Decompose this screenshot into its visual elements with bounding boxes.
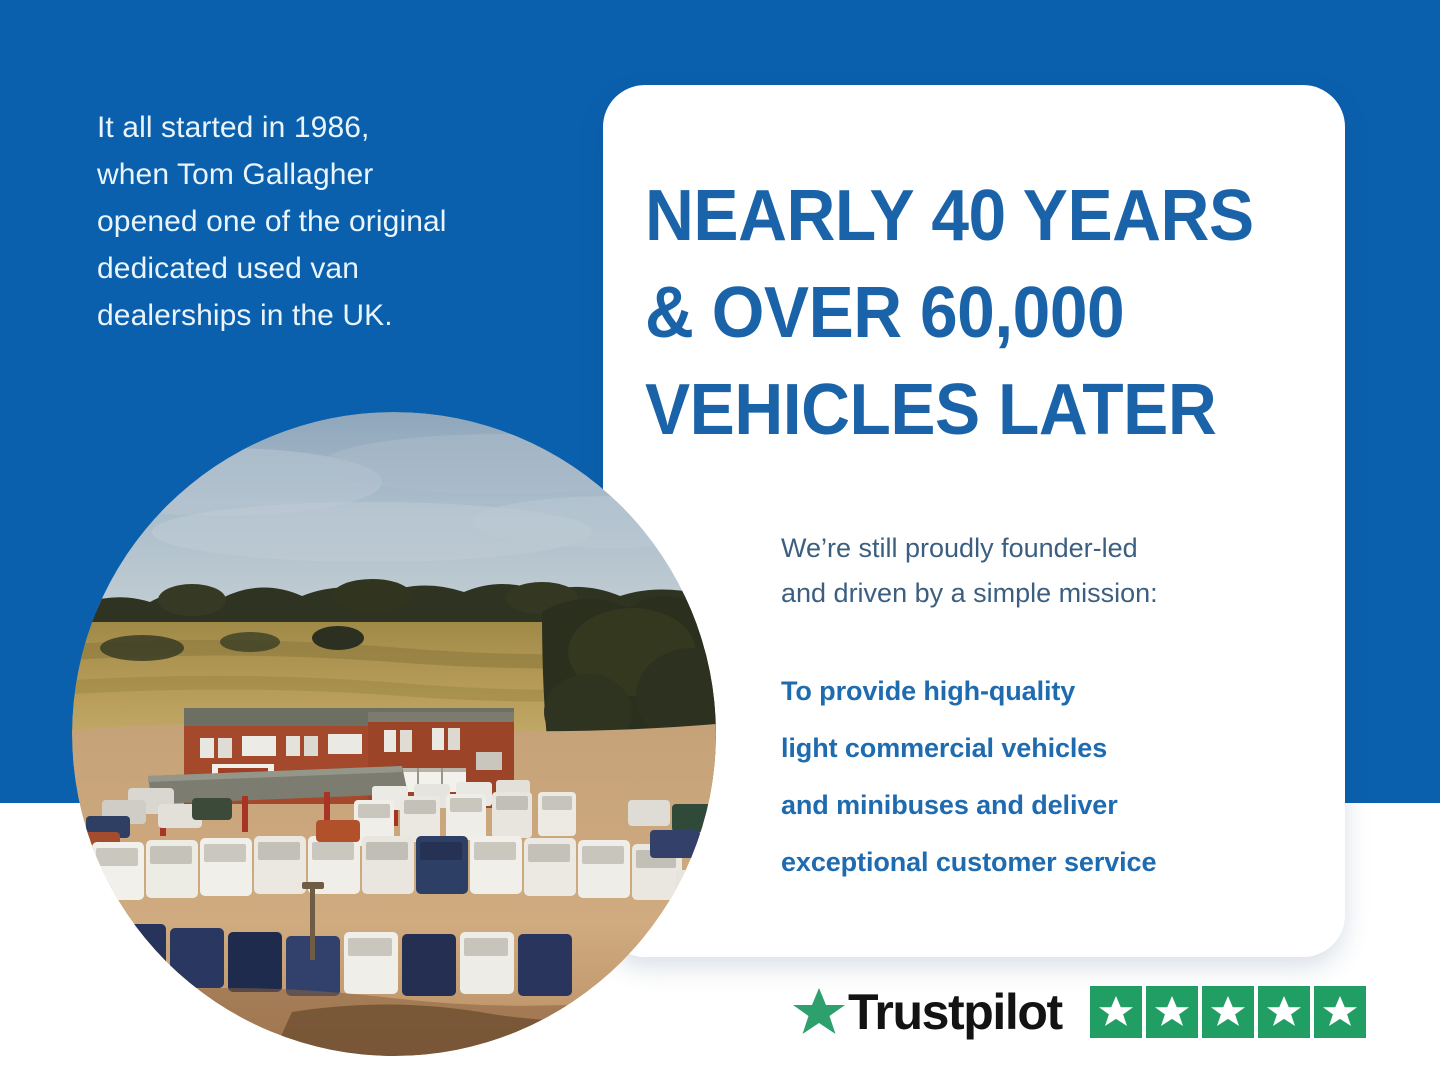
star-icon [1153, 993, 1191, 1031]
founder-led-subtext: We’re still proudly founder-led and driv… [781, 526, 1311, 616]
star-tile [1314, 986, 1366, 1038]
star-tile [1258, 986, 1310, 1038]
dealership-photo [72, 412, 716, 1056]
star-tile [1146, 986, 1198, 1038]
star-icon [1097, 993, 1135, 1031]
trustpilot-star-icon [792, 986, 846, 1038]
star-icon [1321, 993, 1359, 1031]
star-icon [1209, 993, 1247, 1031]
trustpilot-rating[interactable]: Trustpilot [792, 979, 1366, 1045]
trustpilot-wordmark: Trustpilot [848, 987, 1062, 1037]
page-title: NEARLY 40 YEARS & OVER 60,000 VEHICLES L… [645, 168, 1294, 459]
star-icon [1265, 993, 1303, 1031]
trustpilot-logo: Trustpilot [792, 986, 1062, 1038]
mission-statement: To provide high-quality light commercial… [781, 663, 1321, 891]
trustpilot-stars [1090, 986, 1366, 1038]
marketing-graphic: It all started in 1986, when Tom Gallagh… [0, 0, 1440, 1080]
intro-paragraph: It all started in 1986, when Tom Gallagh… [97, 104, 567, 339]
star-tile [1202, 986, 1254, 1038]
star-tile [1090, 986, 1142, 1038]
